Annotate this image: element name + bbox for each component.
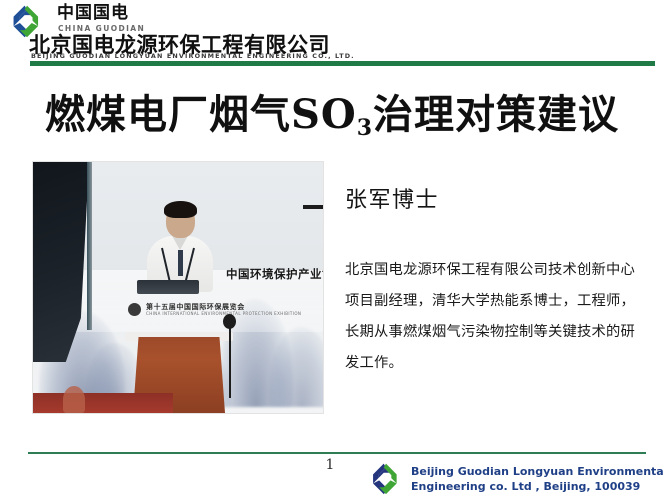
footer-line-1: Beijing Guodian Longyuan Environmental	[411, 464, 664, 479]
slide-header: 中国国电 CHINA GUODIAN 北京国电龙源环保工程有限公司 BEIJIN…	[0, 0, 664, 66]
footer-line-2: Engineering co. Ltd , Beijing, 100039	[411, 479, 664, 494]
photo-foreground-object	[63, 386, 85, 413]
page-title-formula: SO	[291, 91, 357, 138]
brand-name-cn: 中国国电	[57, 4, 129, 23]
photo-speaker-hair	[164, 201, 197, 218]
page-title-part2: 治理对策建议	[373, 91, 619, 138]
exhibition-subtitle: CHINA INTERNATIONAL ENVIRONMENTAL PROTEC…	[146, 311, 301, 316]
exhibition-logo-icon	[128, 303, 141, 316]
photo-laptop	[137, 280, 199, 294]
photo-screen-edge	[87, 162, 92, 330]
photo-banner-text: 中国环境保护产业协会	[226, 266, 324, 282]
footer-guodian-pinwheel-logo-icon	[367, 462, 405, 495]
photo-speaker-tie	[178, 250, 183, 276]
footer-divider	[28, 452, 646, 454]
page-title: 燃煤电厂烟气SO3治理对策建议	[0, 82, 664, 140]
speaker-name: 张军博士	[345, 182, 439, 214]
company-name-en: BEIJING GUODIAN LONGYUAN ENVIRONMENTAL E…	[31, 52, 355, 60]
speaker-photo: 中国环境保护产业协会 第十五届中国国际环保展览会 CHINA INTERNATI…	[32, 161, 324, 414]
photo-floor-mic-stand	[229, 322, 231, 398]
speaker-bio: 北京国电龙源环保工程有限公司技术创新中心项目副经理，清华大学热能系博士，工程师，…	[345, 255, 647, 379]
photo-exhibition-strip: 第十五届中国国际环保展览会 CHINA INTERNATIONAL ENVIRO…	[128, 302, 273, 318]
page-number: 1	[320, 457, 340, 473]
photo-carpet	[33, 393, 173, 413]
page-title-formula-subscript: 3	[357, 115, 373, 141]
page-title-part1: 燃煤电厂烟气	[45, 91, 291, 138]
header-divider	[30, 61, 655, 66]
footer-company-address: Beijing Guodian Longyuan Environmental E…	[411, 464, 664, 494]
photo-banner-dash	[303, 205, 324, 209]
